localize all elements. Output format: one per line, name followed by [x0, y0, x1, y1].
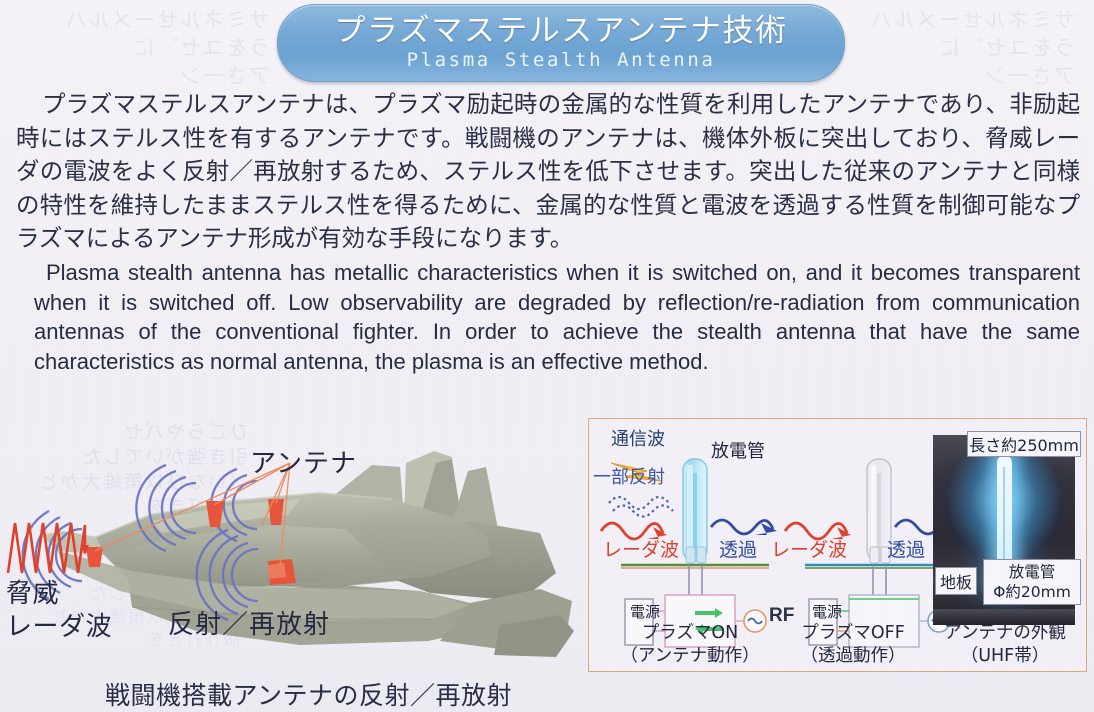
- label-radar-wave-off: レーダ波: [771, 535, 847, 562]
- label-partial-reflect: 一部反射: [593, 463, 665, 489]
- label-radar-wave-on: レーダ波: [603, 535, 679, 562]
- caption-plasma-on: プラズマON （アンテナ動作）: [605, 622, 775, 668]
- label-power-off: 電源: [812, 603, 832, 621]
- label-comm-wave: 通信波: [611, 425, 665, 451]
- label-transmit-on: 透過: [719, 535, 757, 562]
- title-japanese: プラズマステルスアンテナ技術: [334, 14, 787, 48]
- discharge-tube-on: [683, 459, 707, 563]
- aircraft-figure: アンテナ 脅威 レーダ波 反射／再放射: [0, 405, 580, 712]
- caption-plasma-off: プラズマOFF （透過動作）: [775, 622, 931, 668]
- paragraph-japanese: プラズマステルスアンテナは、プラズマ励起時の金属的な性質を利用したアンテナであり…: [16, 88, 1080, 256]
- label-length: 長さ約250mm: [967, 431, 1081, 457]
- title-english: Plasma Stealth Antenna: [407, 49, 716, 72]
- caption-photo-line2: （UHF帯）: [931, 645, 1079, 668]
- title-banner: プラズマステルスアンテナ技術 Plasma Stealth Antenna: [277, 4, 845, 82]
- label-tube-dimension: 放電管 Φ約20mm: [983, 559, 1081, 605]
- label-discharge-tube: 放電管: [711, 437, 765, 463]
- label-threat-line2: レーダ波: [6, 611, 112, 644]
- paragraph-english: Plasma stealth antenna has metallic char…: [34, 258, 1080, 376]
- antenna-marker-1: [86, 547, 103, 567]
- label-threat-radar: 脅威 レーダ波: [6, 578, 112, 644]
- caption-antenna-photo: アンテナの外観 （UHF帯）: [931, 622, 1079, 668]
- caption-photo-line1: アンテナの外観: [931, 622, 1079, 645]
- caption-plasma-on-line1: プラズマON: [605, 622, 775, 645]
- plasma-antenna-panel: 通信波 一部反射 放電管 レーダ波 透過 電源 RF プラズマON （アンテナ動…: [588, 418, 1087, 672]
- label-antenna: アンテナ: [250, 443, 357, 480]
- label-tube-line2: Φ約20mm: [993, 582, 1071, 602]
- label-tube-line1: 放電管: [1009, 562, 1056, 582]
- label-reflect-reradiate: 反射／再放射: [168, 604, 330, 641]
- figure-left-caption: 戦闘機搭載アンテナの反射／再放射: [105, 676, 512, 712]
- label-transmit-off: 透過: [887, 535, 925, 562]
- label-power-on: 電源: [630, 603, 650, 621]
- caption-plasma-off-line1: プラズマOFF: [775, 622, 931, 645]
- caption-plasma-on-line2: （アンテナ動作）: [605, 645, 775, 668]
- caption-plasma-off-line2: （透過動作）: [775, 645, 931, 668]
- label-ground-plane: 地板: [935, 567, 977, 595]
- partial-reflection-wave: [609, 497, 673, 517]
- label-threat-line1: 脅威: [6, 578, 112, 611]
